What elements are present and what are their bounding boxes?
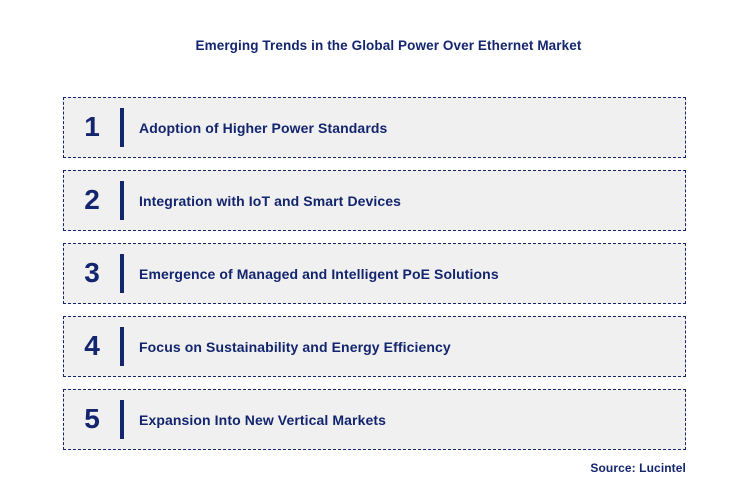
list-item: 1 Adoption of Higher Power Standards: [63, 97, 686, 158]
trend-label: Emergence of Managed and Intelligent PoE…: [124, 266, 685, 282]
list-item: 2 Integration with IoT and Smart Devices: [63, 170, 686, 231]
list-item: 4 Focus on Sustainability and Energy Eff…: [63, 316, 686, 377]
trend-number: 3: [64, 259, 120, 289]
list-item: 5 Expansion Into New Vertical Markets: [63, 389, 686, 450]
trend-number: 2: [64, 186, 120, 216]
trend-list: 1 Adoption of Higher Power Standards 2 I…: [63, 97, 686, 450]
trend-label: Integration with IoT and Smart Devices: [124, 193, 685, 209]
trend-label: Focus on Sustainability and Energy Effic…: [124, 339, 685, 355]
trend-number: 1: [64, 113, 120, 143]
trend-label: Adoption of Higher Power Standards: [124, 120, 685, 136]
page-title: Emerging Trends in the Global Power Over…: [0, 38, 729, 53]
trend-number: 4: [64, 332, 120, 362]
source-attribution: Source: Lucintel: [0, 461, 686, 475]
infographic-canvas: Emerging Trends in the Global Power Over…: [0, 0, 729, 495]
list-item: 3 Emergence of Managed and Intelligent P…: [63, 243, 686, 304]
trend-label: Expansion Into New Vertical Markets: [124, 412, 685, 428]
trend-number: 5: [64, 405, 120, 435]
